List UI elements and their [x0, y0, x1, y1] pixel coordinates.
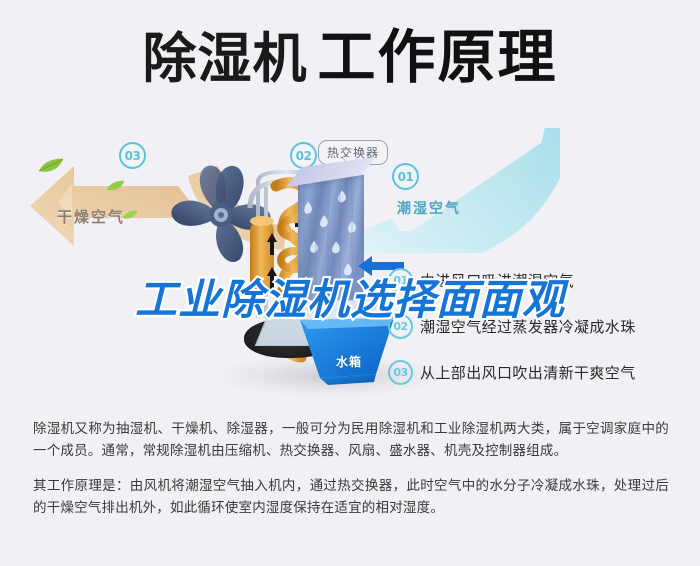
page-title-part2: 工作原理 [317, 28, 557, 86]
poster-root: 除湿机 工作原理 [0, 0, 700, 566]
leaf-icon [106, 180, 125, 192]
legend-badge-03: 03 [388, 360, 413, 385]
water-tank-label: 水箱 [336, 353, 362, 370]
body-paragraph-2: 其工作原理是：由风机将潮湿空气抽入机内，通过热交换器，此时空气中的水分子冷凝成水… [33, 475, 669, 519]
diagram-badge-01: 01 [392, 163, 419, 190]
legend-text-03: 从上部出风口吹出清新干爽空气 [420, 362, 636, 383]
body-copy: 除湿机又称为抽湿机、干燥机、除湿器，一般可分为民用除湿机和工业除湿机两大类，属于… [33, 418, 669, 519]
diagram-badge-03: 03 [119, 142, 146, 169]
watermark-text: 工业除湿机选择面面观 [0, 266, 700, 327]
humid-air-label: 潮湿空气 [397, 198, 461, 218]
page-title: 除湿机 工作原理 [0, 28, 700, 86]
dry-air-label: 干燥空气 [57, 206, 125, 227]
leaf-icon [38, 158, 64, 174]
body-paragraph-1: 除湿机又称为抽湿机、干燥机、除湿器，一般可分为民用除湿机和工业除湿机两大类，属于… [33, 418, 669, 462]
legend-item: 03 从上部出风口吹出清新干爽空气 [388, 360, 688, 385]
page-title-part1: 除湿机 [142, 32, 307, 86]
